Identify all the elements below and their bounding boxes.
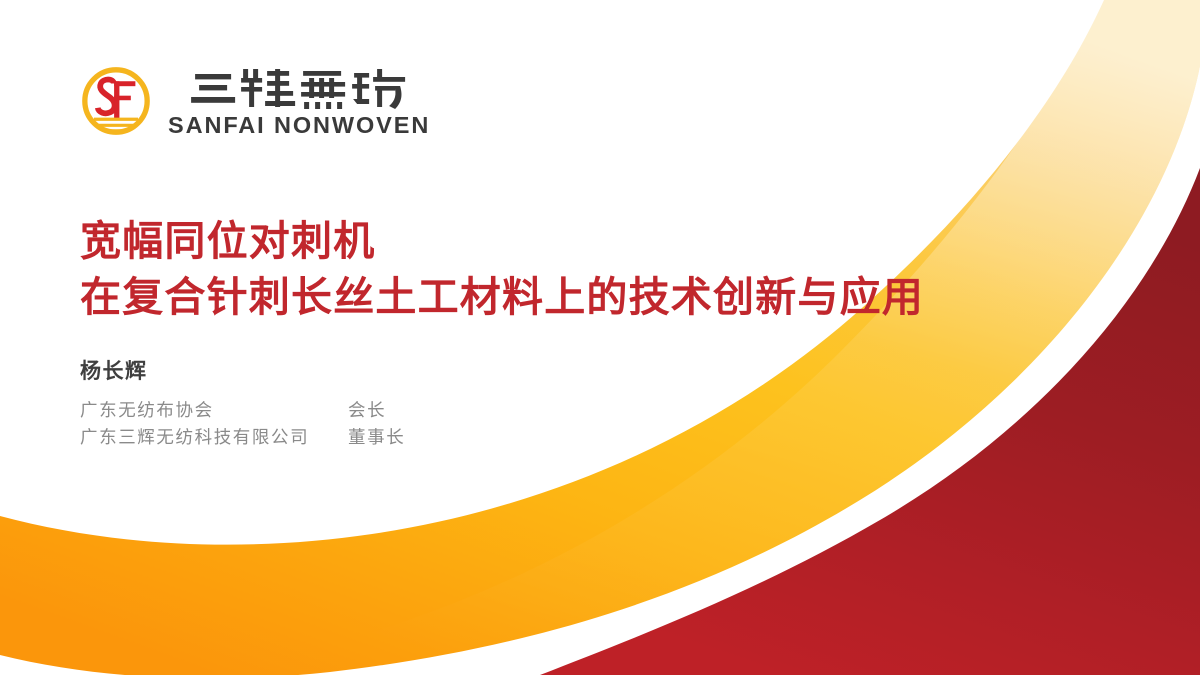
author-block: 杨长辉 广东无纺布协会 会长 广东三辉无纺科技有限公司 董事长 (80, 358, 405, 452)
logo-wordmark: SANFAI NONWOVEN (168, 65, 430, 138)
affiliation-row: 广东三辉无纺科技有限公司 董事长 (80, 424, 405, 451)
affiliation-organization: 广东无纺布协会 (80, 397, 348, 424)
affiliation-role: 董事长 (348, 424, 405, 451)
logo-chinese-wordmark-icon (168, 65, 430, 111)
title-slide: SANFAI NONWOVEN 宽幅同位对刺机 在复合针刺长丝土工材料上的技术创… (0, 0, 1200, 675)
author-name: 杨长辉 (80, 358, 405, 385)
title-line-1: 宽幅同位对刺机 (80, 214, 924, 270)
page-title: 宽幅同位对刺机 在复合针刺长丝土工材料上的技术创新与应用 (80, 214, 924, 326)
logo-english-wordmark: SANFAI NONWOVEN (168, 114, 430, 138)
company-logo: SANFAI NONWOVEN (78, 63, 430, 139)
sanfai-circle-sf-monogram-icon (78, 63, 154, 139)
affiliation-row: 广东无纺布协会 会长 (80, 397, 405, 424)
title-line-2: 在复合针刺长丝土工材料上的技术创新与应用 (80, 270, 924, 326)
affiliation-organization: 广东三辉无纺科技有限公司 (80, 424, 348, 451)
affiliation-role: 会长 (348, 397, 386, 424)
